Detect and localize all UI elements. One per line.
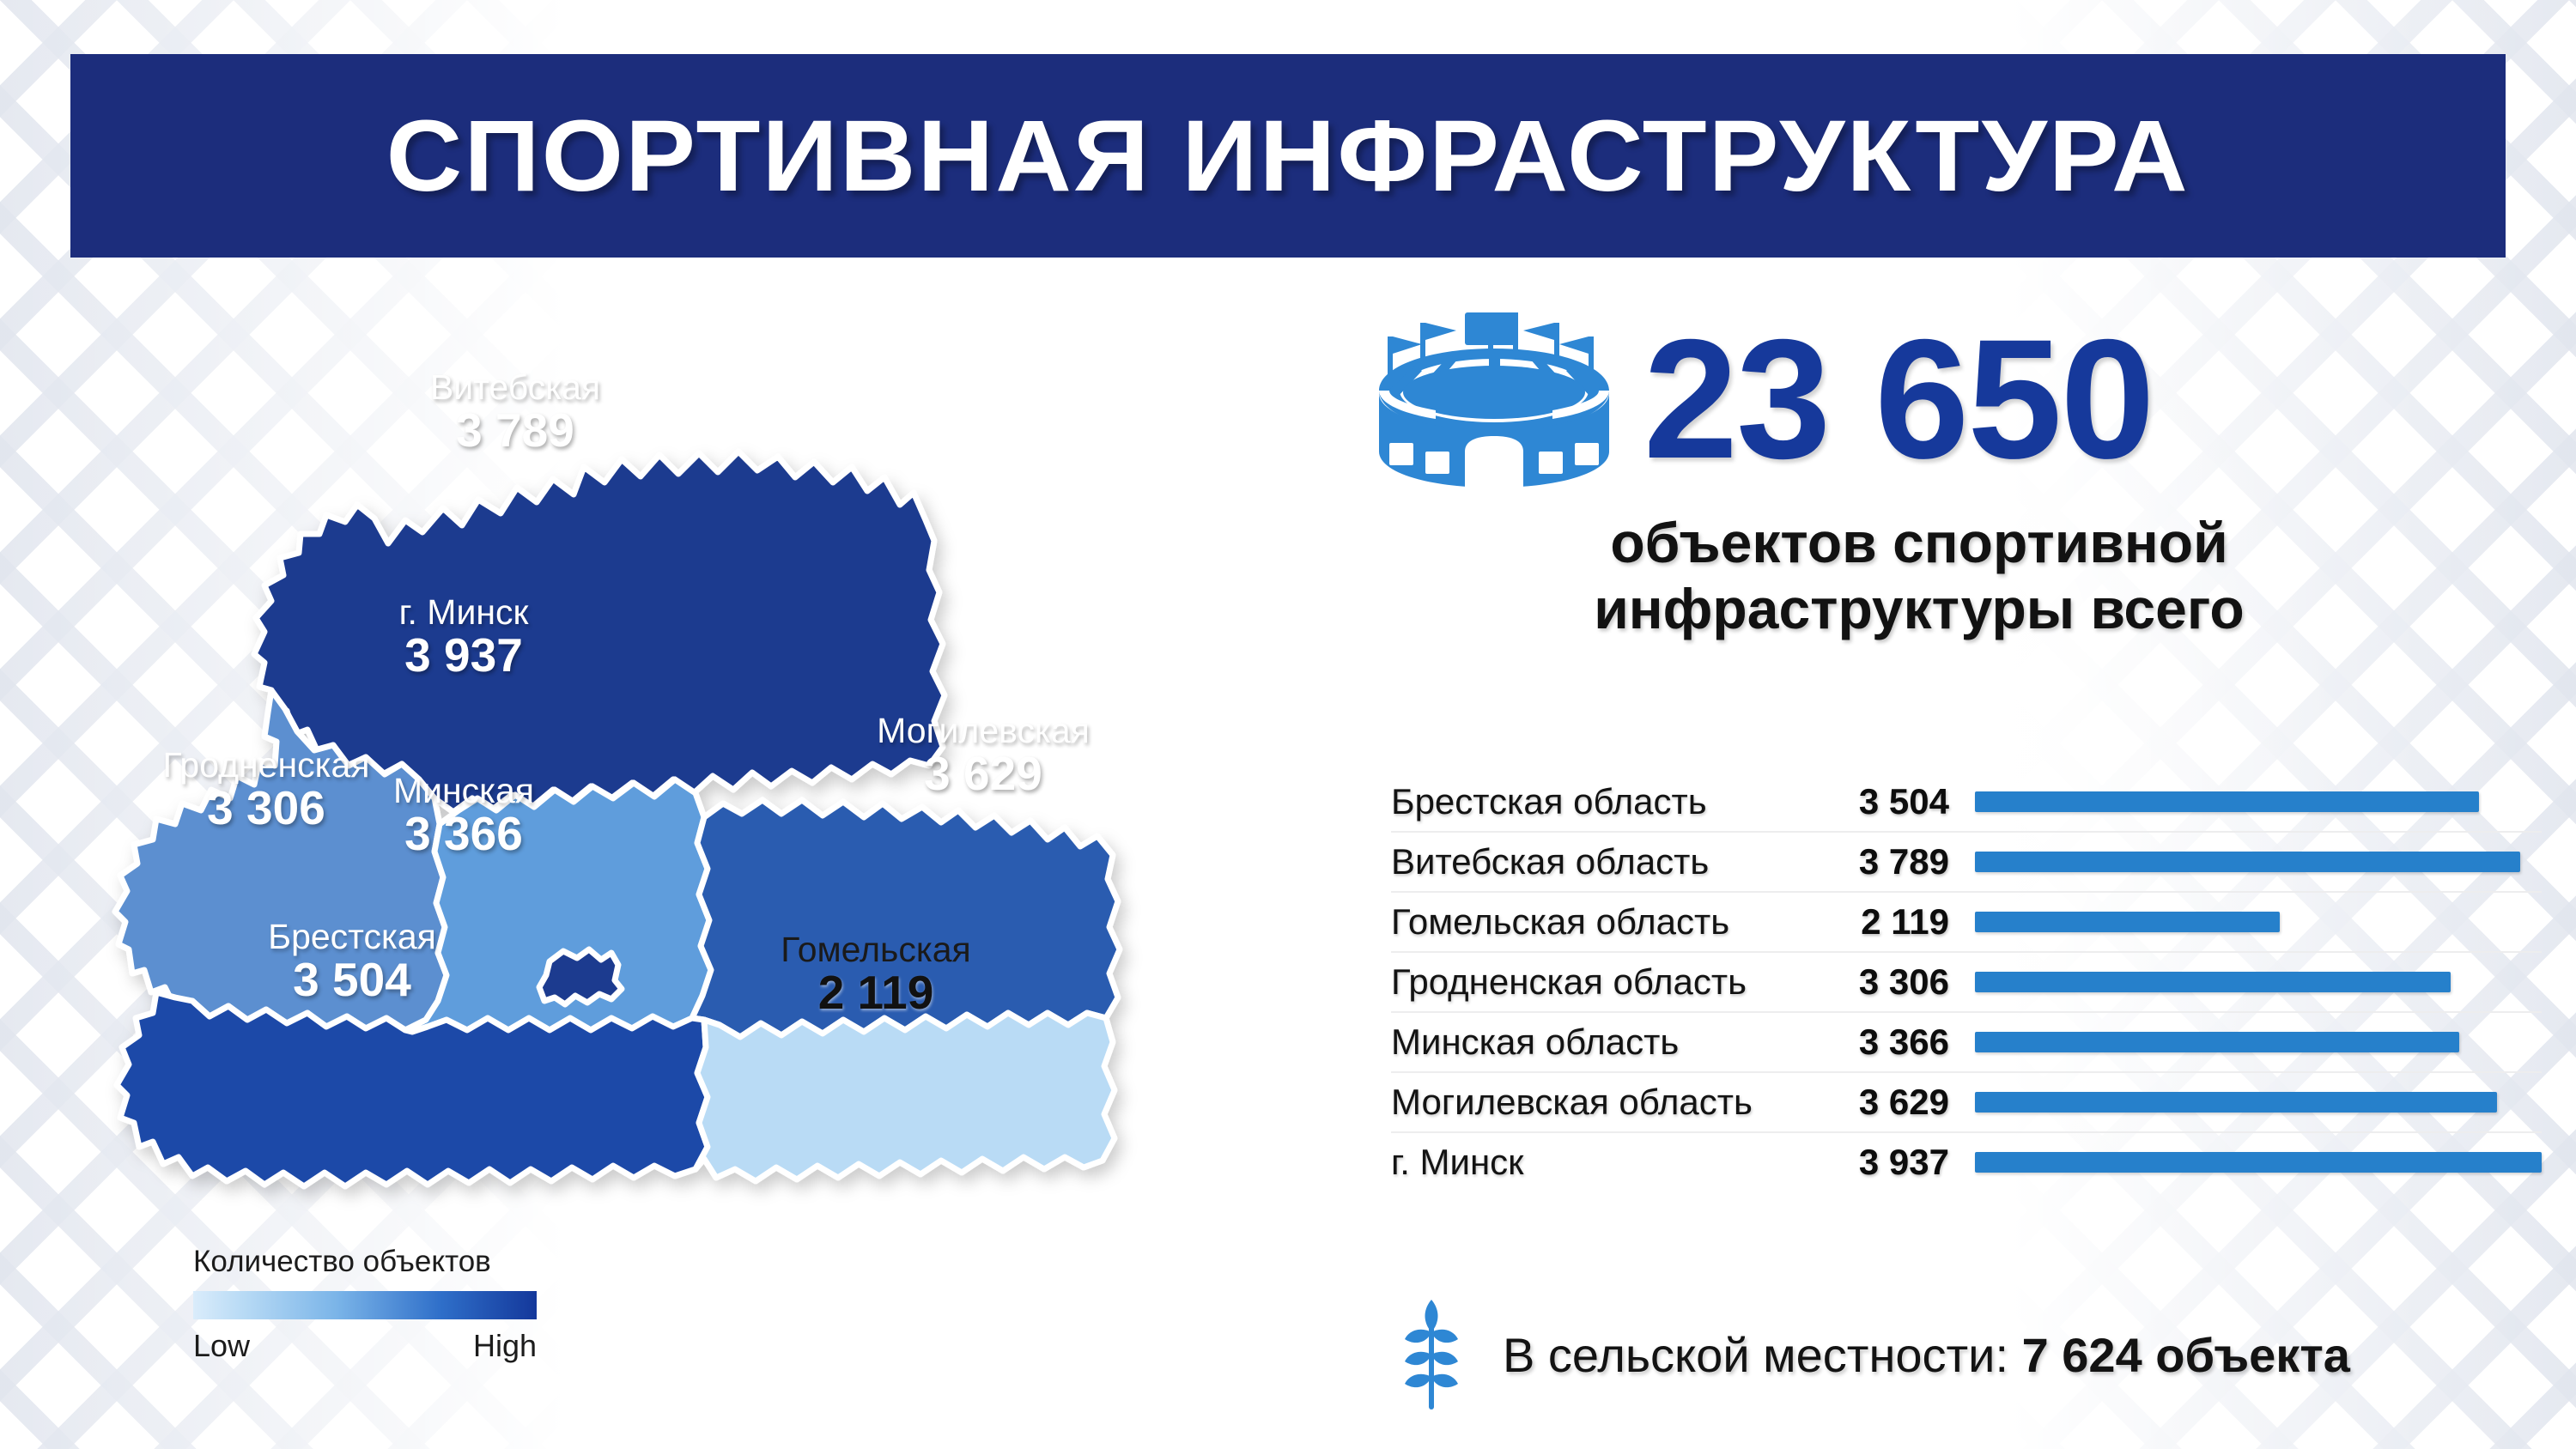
rural-footer-text: В сельской местности: 7 624 объекта bbox=[1503, 1327, 2350, 1383]
row-label: Минская область bbox=[1391, 1022, 1803, 1063]
row-value: 3 504 bbox=[1803, 781, 1975, 822]
map-region-minsk-city-inset[interactable] bbox=[539, 949, 622, 1004]
row-label: Витебская область bbox=[1391, 841, 1803, 882]
table-row[interactable]: Брестская область 3 504 bbox=[1391, 773, 2542, 833]
table-row[interactable]: Минская область 3 366 bbox=[1391, 1013, 2542, 1073]
bar-fill bbox=[1975, 791, 2479, 812]
row-label: Гомельская область bbox=[1391, 901, 1803, 943]
bar-fill bbox=[1975, 1152, 2542, 1173]
row-label: г. Минск bbox=[1391, 1142, 1803, 1183]
bar-track bbox=[1975, 972, 2542, 992]
legend-low-label: Low bbox=[193, 1328, 250, 1364]
bar-track bbox=[1975, 791, 2542, 812]
wheat-icon bbox=[1400, 1298, 1463, 1411]
bar-track bbox=[1975, 912, 2542, 932]
bar-fill bbox=[1975, 1032, 2459, 1052]
bar-track bbox=[1975, 1032, 2542, 1052]
bar-fill bbox=[1975, 912, 2280, 932]
legend-gradient-bar bbox=[193, 1291, 537, 1319]
map-region-gomel[interactable] bbox=[696, 1013, 1115, 1181]
row-label: Брестская область bbox=[1391, 781, 1803, 822]
legend-title: Количество объектов bbox=[193, 1245, 554, 1279]
row-value: 3 789 bbox=[1803, 841, 1975, 882]
row-value: 3 937 bbox=[1803, 1142, 1975, 1183]
page-title: СПОРТИВНАЯ ИНФРАСТРУКТУРА bbox=[386, 98, 2190, 215]
row-value: 3 629 bbox=[1803, 1082, 1975, 1123]
map-legend: Количество объектов Low High bbox=[193, 1245, 554, 1364]
row-label: Могилевская область bbox=[1391, 1082, 1803, 1123]
total-caption-line2: инфраструктуры всего bbox=[1374, 576, 2464, 642]
bar-fill bbox=[1975, 852, 2520, 872]
table-row[interactable]: г. Минск 3 937 bbox=[1391, 1133, 2542, 1191]
map-region-mogilev[interactable] bbox=[692, 800, 1120, 1037]
table-row[interactable]: Могилевская область 3 629 bbox=[1391, 1073, 2542, 1133]
table-row[interactable]: Гомельская область 2 119 bbox=[1391, 893, 2542, 953]
rural-label: В сельской местности: bbox=[1503, 1328, 2008, 1382]
row-value: 3 306 bbox=[1803, 961, 1975, 1003]
row-value: 3 366 bbox=[1803, 1022, 1975, 1063]
row-label: Гродненская область bbox=[1391, 961, 1803, 1003]
legend-scale: Low High bbox=[193, 1328, 537, 1364]
map-panel: Витебская 3 789 г. Минск 3 937 Могилевск… bbox=[103, 283, 1322, 1399]
table-row[interactable]: Витебская область 3 789 bbox=[1391, 833, 2542, 893]
table-row[interactable]: Гродненская область 3 306 bbox=[1391, 953, 2542, 1013]
bar-track bbox=[1975, 1092, 2542, 1113]
bar-fill bbox=[1975, 972, 2451, 992]
total-caption: объектов спортивной инфраструктуры всего bbox=[1374, 510, 2464, 642]
total-number: 23 650 bbox=[1643, 314, 2154, 484]
belarus-choropleth-map bbox=[103, 283, 1322, 1253]
stadium-icon bbox=[1374, 307, 1614, 492]
legend-high-label: High bbox=[473, 1328, 537, 1364]
rural-footer: В сельской местности: 7 624 объекта bbox=[1400, 1298, 2350, 1411]
page-title-bar: СПОРТИВНАЯ ИНФРАСТРУКТУРА bbox=[70, 54, 2506, 258]
total-caption-line1: объектов спортивной bbox=[1374, 510, 2464, 576]
bar-fill bbox=[1975, 1092, 2497, 1113]
region-bar-chart: Брестская область 3 504 Витебская област… bbox=[1391, 773, 2542, 1191]
total-row: 23 650 bbox=[1374, 300, 2524, 498]
bar-track bbox=[1975, 1152, 2542, 1173]
row-value: 2 119 bbox=[1803, 901, 1975, 943]
rural-value: 7 624 объекта bbox=[2022, 1328, 2350, 1382]
total-summary-panel: 23 650 объектов спортивной инфраструктур… bbox=[1374, 300, 2524, 642]
bar-track bbox=[1975, 852, 2542, 872]
